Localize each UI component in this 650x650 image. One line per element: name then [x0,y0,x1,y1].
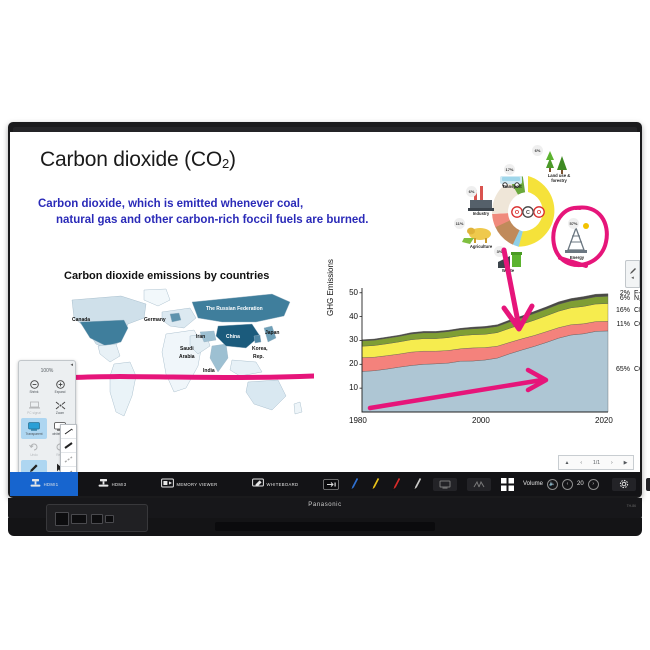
chart-y-tick: 30 [342,335,358,344]
source-label: HDMI1 [44,482,59,487]
page-title-paren: ) [229,148,236,171]
pen-icon [29,463,39,472]
volume-up-button[interactable]: › [588,479,599,490]
pen-color-button[interactable] [386,472,407,496]
map-label: Germany [144,317,166,323]
map-label: Rep. [253,354,264,360]
pen-icon [629,267,637,275]
toolbar-zoom-level: 100% [19,368,75,374]
map-label: Korea, [252,346,268,352]
toolbar-item-label: Zoom [56,411,64,415]
chevron-left-icon: ◂ [631,275,634,281]
pen-color-button[interactable] [407,472,428,496]
source-label: HDMI3 [112,482,127,487]
chart-x-tick: 2020 [595,416,613,425]
undo-icon [29,442,39,453]
chart-y-tick: 20 [342,359,358,368]
toolbar-item-label: Shrink [29,390,38,394]
legend-label: CO₂ FF [634,366,640,373]
donut-percent: 6% [532,145,543,156]
co2-molecule-icon: O C O [512,207,544,217]
donut-label: Waste [495,268,521,273]
map-label: Canada [72,317,90,323]
screen-share-icon [433,478,457,491]
device-control-panel[interactable] [46,504,148,532]
plus-circle-icon [56,379,65,390]
palette-tip-medium[interactable] [61,439,76,453]
map-label: Arabia [179,354,195,360]
svg-text:C: C [526,210,530,216]
svg-text:O: O [537,210,541,216]
toolbar-item-shrink[interactable]: Shrink [21,376,47,397]
page-indicator: 1/1 [593,460,600,466]
map-label: China [226,334,240,340]
slide-subtitle: Carbon dioxide, which is emitted wheneve… [38,196,438,228]
page-title-text: Carbon dioxide (CO [40,148,222,171]
chart-y-tick: 40 [342,312,358,321]
source-buttons: HDMI1HDMI3MEMORY VIEWERWHITEBOARD [10,472,318,496]
donut-percent: 57% [568,218,579,229]
split-screen-button[interactable] [462,472,496,496]
volume-control[interactable]: Volume 🔈 ‹ 20 › [519,479,603,490]
source-button-hdmi1[interactable]: HDMI1 [10,472,78,496]
pen-color-button[interactable] [344,472,365,496]
system-toolbar[interactable]: HDMI1HDMI3MEMORY VIEWERWHITEBOARD [10,472,640,496]
input-select-icon [323,479,339,490]
mute-button[interactable]: 🔈 [547,479,558,490]
hdmi-icon [30,475,41,493]
screenshot-root: Carbon dioxide (CO2) Carbon dioxide, whi… [0,0,650,650]
input-select-button[interactable] [318,472,344,496]
legend-percent: 16% [610,307,630,314]
pen-icon [391,476,402,492]
donut-percent: 17% [504,164,515,175]
toolbar-item-undo[interactable]: Undo [21,439,47,460]
chart-y-axis-label: GHG Emissions [326,259,335,316]
chart-x-tick: 1980 [349,416,367,425]
page-navigation[interactable]: ▲ ‹ 1/1 › ▶ [558,455,634,470]
collapse-button[interactable] [641,472,650,496]
display-screen: Carbon dioxide (CO2) Carbon dioxide, whi… [10,132,640,472]
slide-subtitle-line1: Carbon dioxide, which is emitted wheneve… [38,198,303,210]
legend-label: F-Gases [634,290,640,297]
pen-icon [370,476,381,492]
emissions-donut-chart: O C O [440,142,615,277]
volume-down-button[interactable]: ‹ [562,479,573,490]
toolbar-item-zoom[interactable]: Zoom [47,397,73,418]
hdmi-icon [98,475,109,493]
tree-icon [546,151,567,174]
toolbar-item-expand[interactable]: Expand [47,376,73,397]
source-button-whiteboard[interactable]: WHITEBOARD [232,472,318,496]
area-chart-svg [326,280,626,438]
donut-label: Industry [466,211,496,216]
slide-subtitle-line2: natural gas and other carbon-rich foccil… [56,212,438,228]
toolbar-item-pen[interactable]: Pen [21,460,47,472]
svg-text:O: O [515,210,519,216]
donut-label: Transport [496,184,528,189]
memory-viewer-icon [161,475,174,493]
legend-label: CH₄ [634,307,640,314]
toolbar-item-pc-signal[interactable]: PC signal [21,397,47,418]
chart-y-tick: 50 [342,288,358,297]
legend-percent: 65% [610,366,630,373]
pen-color-button[interactable] [365,472,386,496]
next-page-button[interactable]: › [611,460,613,466]
volume-label: Volume [523,481,543,487]
last-page-button[interactable]: ▶ [624,460,628,466]
whiteboard-canvas[interactable]: Carbon dioxide (CO2) Carbon dioxide, whi… [10,132,640,472]
map-label: Iran [196,334,205,340]
map-label: India [203,368,215,374]
donut-label: Energy [562,255,592,260]
source-label: MEMORY VIEWER [177,482,218,487]
first-page-button[interactable]: ▲ [564,460,569,466]
donut-percent: 6% [466,186,477,197]
gear-icon [612,478,636,491]
apps-grid-icon [501,478,514,491]
map-label: The Russian Federation [206,306,263,312]
apps-grid-button[interactable] [496,472,519,496]
prev-page-button[interactable]: ‹ [580,460,582,466]
source-button-memory-viewer[interactable]: MEMORY VIEWER [146,472,232,496]
pen-icon [412,476,423,492]
device-vent [215,522,435,531]
toolbar-item-label: Transparent [25,432,42,436]
toolbar-item-label: Undo [30,453,38,457]
legend-percent: 2% [610,290,630,297]
donut-percent: 11% [454,218,465,229]
transparent-icon [28,421,40,432]
page-title: Carbon dioxide (CO2) [40,148,236,172]
toolbar-item-transparent[interactable]: Transparent [21,418,47,439]
page-title-subscript: 2 [222,156,229,171]
source-label: WHITEBOARD [267,482,299,487]
minus-circle-icon [30,379,39,390]
ghg-emissions-chart: GHG Emissions 1020304050198020002020 65%… [326,280,626,438]
cow-icon [462,228,491,244]
donut-label: Land use &forestry [536,173,582,183]
chart-x-tick: 2000 [472,416,490,425]
legend-percent: 11% [610,321,630,328]
world-map: Canada Germany The Russian Federation Ir… [66,284,314,434]
whiteboard-icon [252,475,264,493]
toolbar-item-label: PC signal [27,411,41,415]
settings-button[interactable] [607,472,641,496]
right-toolbar-handle[interactable]: ◂ [625,260,640,288]
pen-icon [349,476,360,492]
legend-label: CO₂ FOLU [634,321,640,328]
map-label: Japan [265,330,279,336]
screen-share-button[interactable] [428,472,462,496]
pen-buttons [344,472,428,496]
pen-color-palette[interactable] [60,424,77,472]
laptop-icon [29,400,40,411]
split-screen-icon [467,478,491,491]
toolbar-item-label: Expand [55,390,66,394]
volume-value: 20 [577,481,584,487]
map-label: Saudi [180,346,194,352]
model-label: TH-86 [627,504,636,508]
palette-tip-dashed[interactable] [61,453,76,467]
chart-y-tick: 10 [342,383,358,392]
collapse-icon [646,478,650,491]
zoom-arrows-icon [55,400,66,411]
palette-tip-thin[interactable] [61,425,76,439]
source-button-hdmi3[interactable]: HDMI3 [78,472,146,496]
donut-percent: 3% [494,246,505,257]
map-heading: Carbon dioxide emissions by countries [64,270,269,282]
